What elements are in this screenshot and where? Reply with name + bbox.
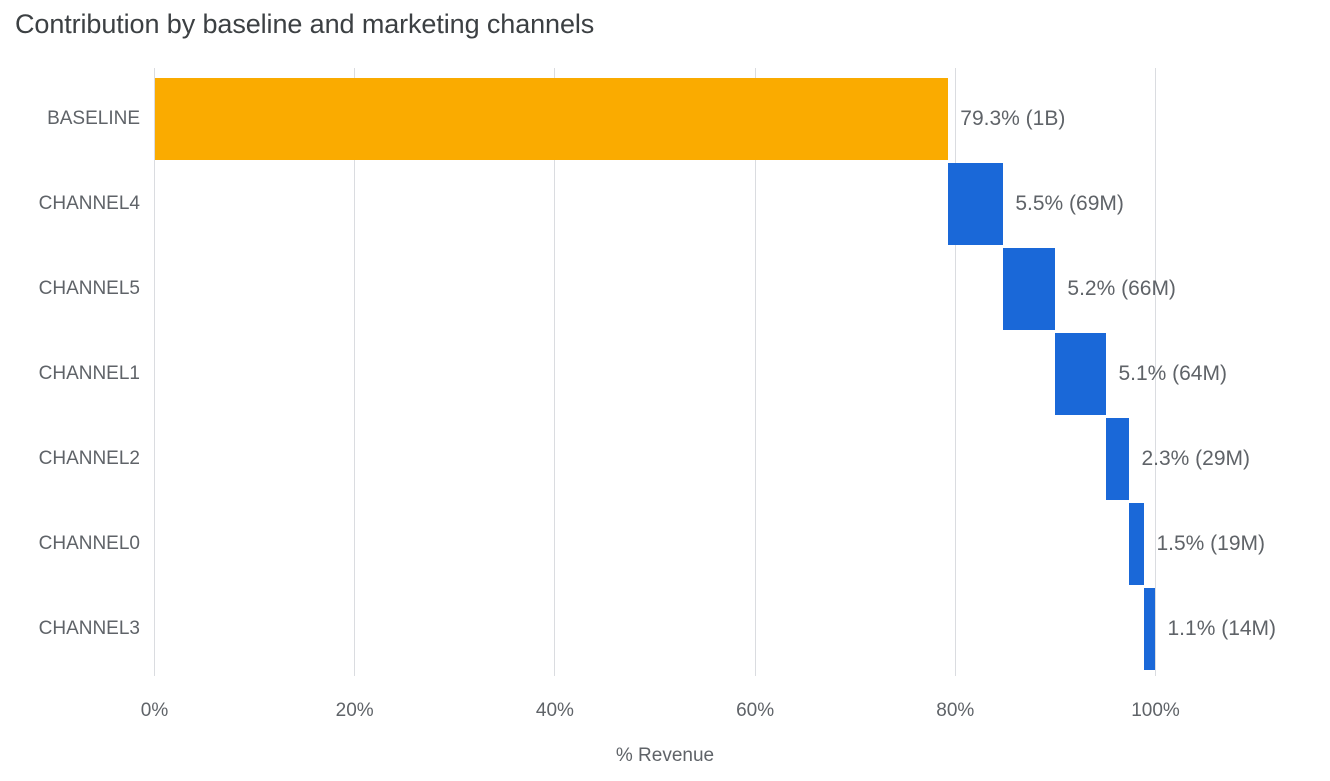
bar-value-label-baseline: 79.3% (1B) — [960, 107, 1065, 131]
chart-canvas: Contribution by baseline and marketing c… — [0, 0, 1330, 781]
y-tick-label-channel5: CHANNEL5 — [0, 278, 140, 300]
bar-channel4[interactable] — [948, 163, 1003, 245]
x-tick-label: 20% — [336, 700, 374, 722]
x-tick-label: 80% — [936, 700, 974, 722]
bar-channel5[interactable] — [1003, 248, 1055, 330]
bar-value-label-channel3: 1.1% (14M) — [1168, 617, 1277, 641]
y-tick-label-channel3: CHANNEL3 — [0, 618, 140, 640]
gridline-80 — [955, 68, 956, 676]
x-axis-title: % Revenue — [0, 745, 1330, 767]
bar-baseline[interactable] — [155, 78, 949, 160]
bar-channel0[interactable] — [1129, 503, 1144, 585]
x-tick-label: 40% — [536, 700, 574, 722]
x-tick-label: 0% — [141, 700, 168, 722]
x-tick-label: 60% — [736, 700, 774, 722]
bar-value-label-channel1: 5.1% (64M) — [1118, 362, 1227, 386]
bar-value-label-channel4: 5.5% (69M) — [1015, 192, 1124, 216]
y-tick-label-channel2: CHANNEL2 — [0, 448, 140, 470]
bar-channel2[interactable] — [1106, 418, 1129, 500]
x-tick-label: 100% — [1131, 700, 1180, 722]
y-tick-label-channel1: CHANNEL1 — [0, 363, 140, 385]
bar-value-label-channel2: 2.3% (29M) — [1141, 447, 1250, 471]
plot-area: 0%20%40%60%80%100%BASELINE79.3% (1B)CHAN… — [0, 0, 1330, 781]
bar-channel3[interactable] — [1144, 588, 1155, 670]
bar-channel1[interactable] — [1055, 333, 1106, 415]
bar-value-label-channel0: 1.5% (19M) — [1156, 532, 1265, 556]
y-tick-label-channel0: CHANNEL0 — [0, 533, 140, 555]
bar-value-label-channel5: 5.2% (66M) — [1067, 277, 1176, 301]
y-tick-label-channel4: CHANNEL4 — [0, 193, 140, 215]
y-tick-label-baseline: BASELINE — [0, 108, 140, 130]
